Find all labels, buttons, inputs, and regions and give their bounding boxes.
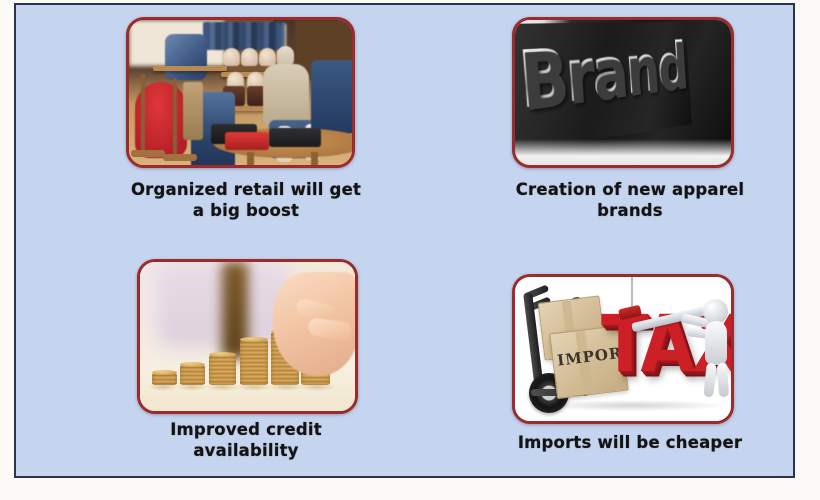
new-apparel-brands-photo-frame: Brand bbox=[512, 17, 734, 168]
slide-outer-margin: Organized retail will get a big boost Br… bbox=[0, 0, 820, 500]
organized-retail-photo-frame bbox=[126, 17, 355, 168]
import-tax-cut-illustration: IMPORT TAX bbox=[515, 277, 731, 421]
panel-new-apparel-brands: Brand Creation of new apparel brands bbox=[510, 17, 750, 232]
coin-stacks-growth-photo bbox=[140, 262, 355, 411]
cheaper-imports-photo-frame: IMPORT TAX bbox=[512, 274, 734, 424]
panel-organized-retail: Organized retail will get a big boost bbox=[126, 17, 366, 232]
brand-metal-letters-photo: Brand bbox=[515, 20, 731, 165]
panel-improved-credit: Improved credit availability bbox=[126, 259, 366, 469]
panel-cheaper-imports: IMPORT TAX Imports will be cheaper bbox=[510, 274, 750, 474]
retail-clothing-store-photo bbox=[129, 20, 352, 165]
improved-credit-photo-frame bbox=[137, 259, 358, 414]
organized-retail-caption: Organized retail will get a big boost bbox=[126, 179, 366, 221]
improved-credit-caption: Improved credit availability bbox=[126, 419, 366, 461]
cheaper-imports-caption: Imports will be cheaper bbox=[510, 432, 750, 453]
new-apparel-brands-caption: Creation of new apparel brands bbox=[510, 179, 750, 221]
slide-canvas: Organized retail will get a big boost Br… bbox=[14, 3, 795, 478]
